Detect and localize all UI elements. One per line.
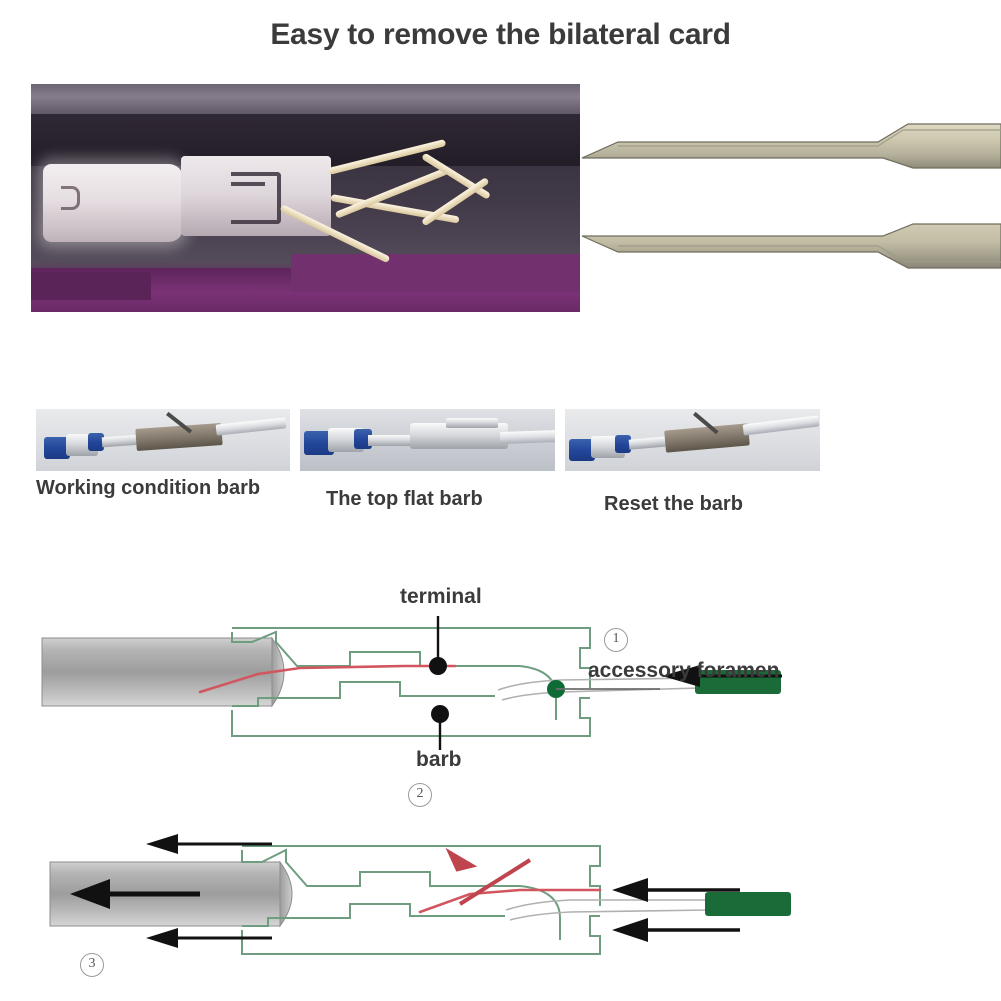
terminal-pin bbox=[500, 430, 555, 444]
tool-blade-lines bbox=[506, 900, 710, 920]
tool-blades-svg bbox=[578, 118, 1001, 270]
terminal-slot-bar bbox=[231, 182, 265, 186]
caption-top-flat-barb: The top flat barb bbox=[326, 487, 561, 512]
terminal-body bbox=[664, 423, 750, 452]
terminal-marking bbox=[61, 186, 80, 210]
label-terminal: terminal bbox=[400, 585, 482, 609]
insertion-arrow-lower bbox=[612, 918, 740, 942]
diagram-one-svg bbox=[0, 570, 1001, 810]
extraction-arrow-bottom bbox=[146, 928, 272, 948]
step-number-three: 3 bbox=[80, 953, 104, 977]
wire-body bbox=[42, 638, 272, 706]
terminal-pin bbox=[216, 417, 287, 435]
diagram-insert-tool bbox=[0, 570, 1001, 810]
terminal-shank bbox=[368, 435, 414, 446]
housing-purple-block bbox=[291, 254, 580, 292]
terminal-pin bbox=[743, 415, 820, 435]
wire-end-cap bbox=[280, 862, 292, 926]
terminal-slot bbox=[231, 172, 281, 224]
connector-housing-outline bbox=[242, 846, 600, 954]
terminal-body bbox=[135, 423, 222, 451]
barb-release-arrow bbox=[442, 848, 530, 904]
step-number-one: 1 bbox=[604, 628, 628, 652]
terminal-shank bbox=[629, 436, 670, 449]
terminal-photo-working-condition-barb bbox=[36, 409, 290, 471]
connector-housing-photo bbox=[31, 84, 580, 312]
bilateral-removal-tool bbox=[578, 118, 1001, 270]
terminal-barb-flattened bbox=[446, 418, 498, 428]
label-accessory-foramen: accessory foramen bbox=[588, 659, 779, 683]
terminal-photo-top-flat-barb bbox=[300, 409, 555, 471]
housing-top-strip bbox=[31, 84, 580, 116]
caption-reset-barb: Reset the barb bbox=[604, 492, 839, 517]
housing-left-notch bbox=[31, 272, 151, 300]
page-title: Easy to remove the bilateral card bbox=[0, 18, 1001, 52]
terminal-shank bbox=[102, 435, 141, 448]
extraction-arrow-top bbox=[146, 834, 272, 854]
diagram-extract-terminal bbox=[0, 820, 1001, 1000]
diagram-two-svg bbox=[0, 820, 1001, 1000]
tool-handle bbox=[705, 892, 791, 916]
terminal-photo-reset-barb bbox=[565, 409, 820, 471]
caption-working-condition-barb: Working condition barb bbox=[36, 476, 276, 501]
product-infographic-page: Easy to remove the bilateral card bbox=[0, 0, 1001, 1001]
label-barb: barb bbox=[416, 748, 462, 772]
step-number-two: 2 bbox=[408, 783, 432, 807]
